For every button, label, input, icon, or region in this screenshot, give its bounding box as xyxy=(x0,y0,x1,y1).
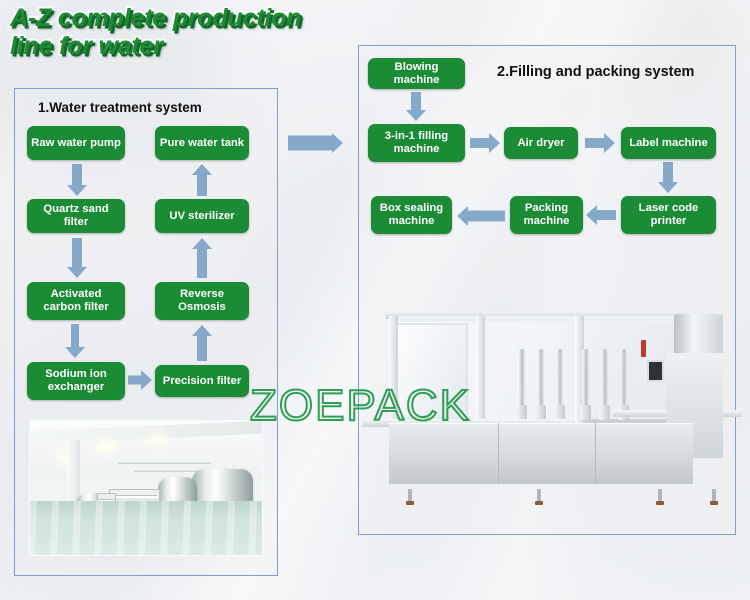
process-box-box-sealing-machine[interactable]: Box sealingmachine xyxy=(371,196,452,234)
panel-title-water-treatment: 1.Water treatment system xyxy=(38,100,202,115)
process-box-air-dryer[interactable]: Air dryer xyxy=(504,127,578,159)
arrow-packing-to-boxsealing-icon xyxy=(457,204,505,228)
process-box-laser-code-printer[interactable]: Laser codeprinter xyxy=(621,196,716,234)
process-box-uv-sterilizer[interactable]: UV sterilizer xyxy=(155,199,249,233)
arrow-filling-to-airdryer-icon xyxy=(470,132,500,154)
process-box-label-machine[interactable]: Label machine xyxy=(621,127,716,159)
process-box-raw-water-pump[interactable]: Raw water pump xyxy=(27,126,125,160)
arrow-rawpump-to-quartz-icon xyxy=(66,164,88,196)
arrow-ro-to-uv-icon xyxy=(191,238,213,278)
water-treatment-plant-photo xyxy=(30,421,262,555)
page-title: A-Z complete production line for water xyxy=(10,4,380,60)
arrow-uv-to-puretank-icon xyxy=(191,164,213,196)
arrow-precision-to-ro-icon xyxy=(191,325,213,361)
process-box-precision-filter[interactable]: Precision filter xyxy=(155,365,249,397)
panel-title-filling-packing: 2.Filling and packing system xyxy=(497,64,694,80)
process-box-blowing-machine[interactable]: Blowing machine xyxy=(368,58,465,89)
filling-machine-photo xyxy=(362,288,742,506)
process-box-activated-carbon-filter[interactable]: Activatedcarbon filter xyxy=(27,282,125,320)
process-box-pure-water-tank[interactable]: Pure water tank xyxy=(155,126,249,160)
arrow-airdryer-to-label-icon xyxy=(585,132,615,154)
arrow-carbon-to-sodium-icon xyxy=(66,324,84,358)
process-box-reverse-osmosis[interactable]: Reverse Osmosis xyxy=(155,282,249,320)
process-box-sodium-ion-exchanger[interactable]: Sodium ionexchanger xyxy=(27,362,125,400)
page-title-line-1: A-Z complete production xyxy=(10,4,380,32)
process-box-3-in-1-filling-machine[interactable]: 3-in-1 fillingmachine xyxy=(368,124,465,162)
arrow-quartz-to-carbon-icon xyxy=(66,238,88,278)
arrow-sodium-to-precision-icon xyxy=(128,370,152,389)
arrow-label-to-laser-icon xyxy=(657,162,679,193)
arrow-treatment-to-filling-icon xyxy=(288,126,343,159)
process-box-packing-machine[interactable]: Packingmachine xyxy=(510,196,583,234)
arrow-laser-to-packing-icon xyxy=(586,204,616,226)
process-box-quartz-sand-filter[interactable]: Quartz sand filter xyxy=(27,199,125,233)
page-title-line-2: line for water xyxy=(10,32,380,60)
arrow-blowing-to-filling-icon xyxy=(405,92,427,121)
